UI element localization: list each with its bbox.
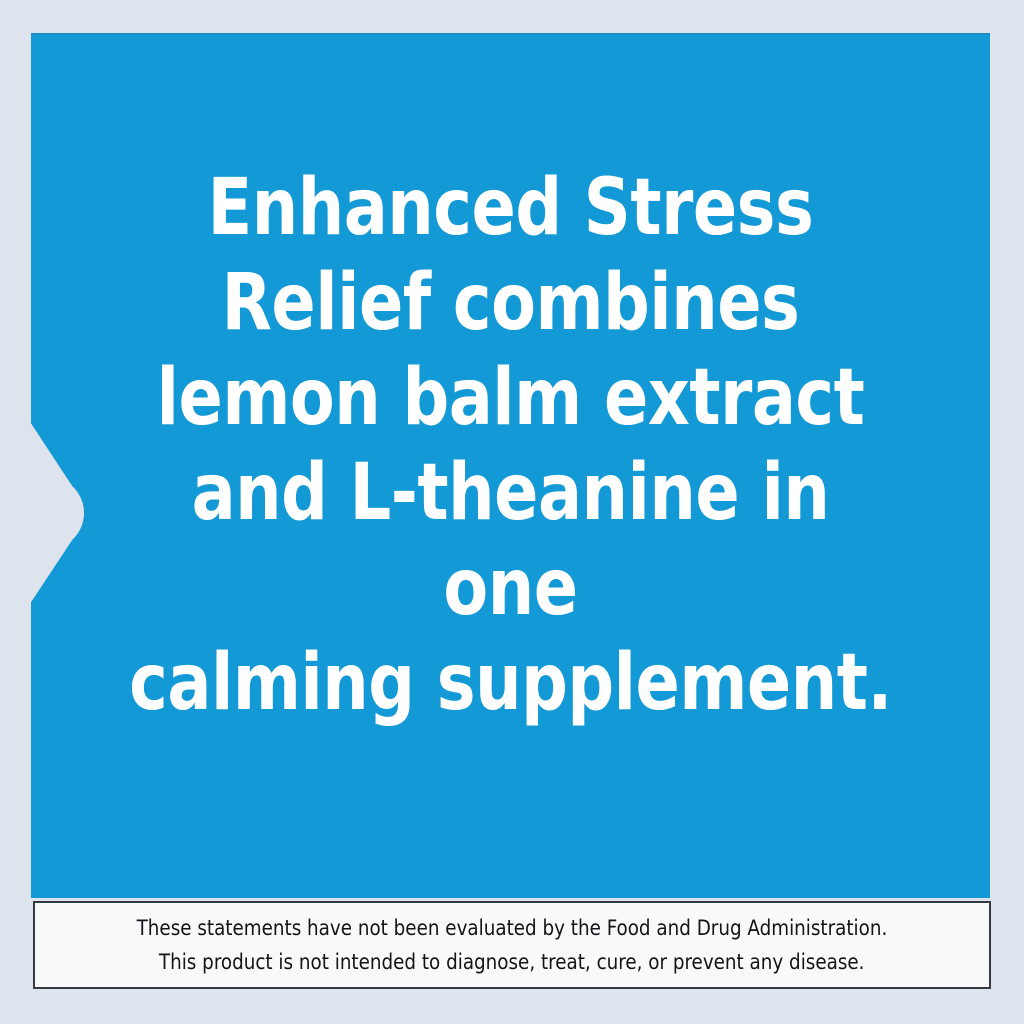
headline-block: Enhanced Stress Relief combines lemon ba… [31, 33, 990, 898]
disclaimer-line-2: This product is not intended to diagnose… [159, 945, 865, 979]
page-title: Enhanced Stress Relief combines lemon ba… [120, 161, 900, 731]
fda-disclaimer-box: These statements have not been evaluated… [33, 901, 991, 989]
promo-card: Enhanced Stress Relief combines lemon ba… [0, 0, 1024, 1024]
disclaimer-line-1: These statements have not been evaluated… [137, 911, 888, 945]
